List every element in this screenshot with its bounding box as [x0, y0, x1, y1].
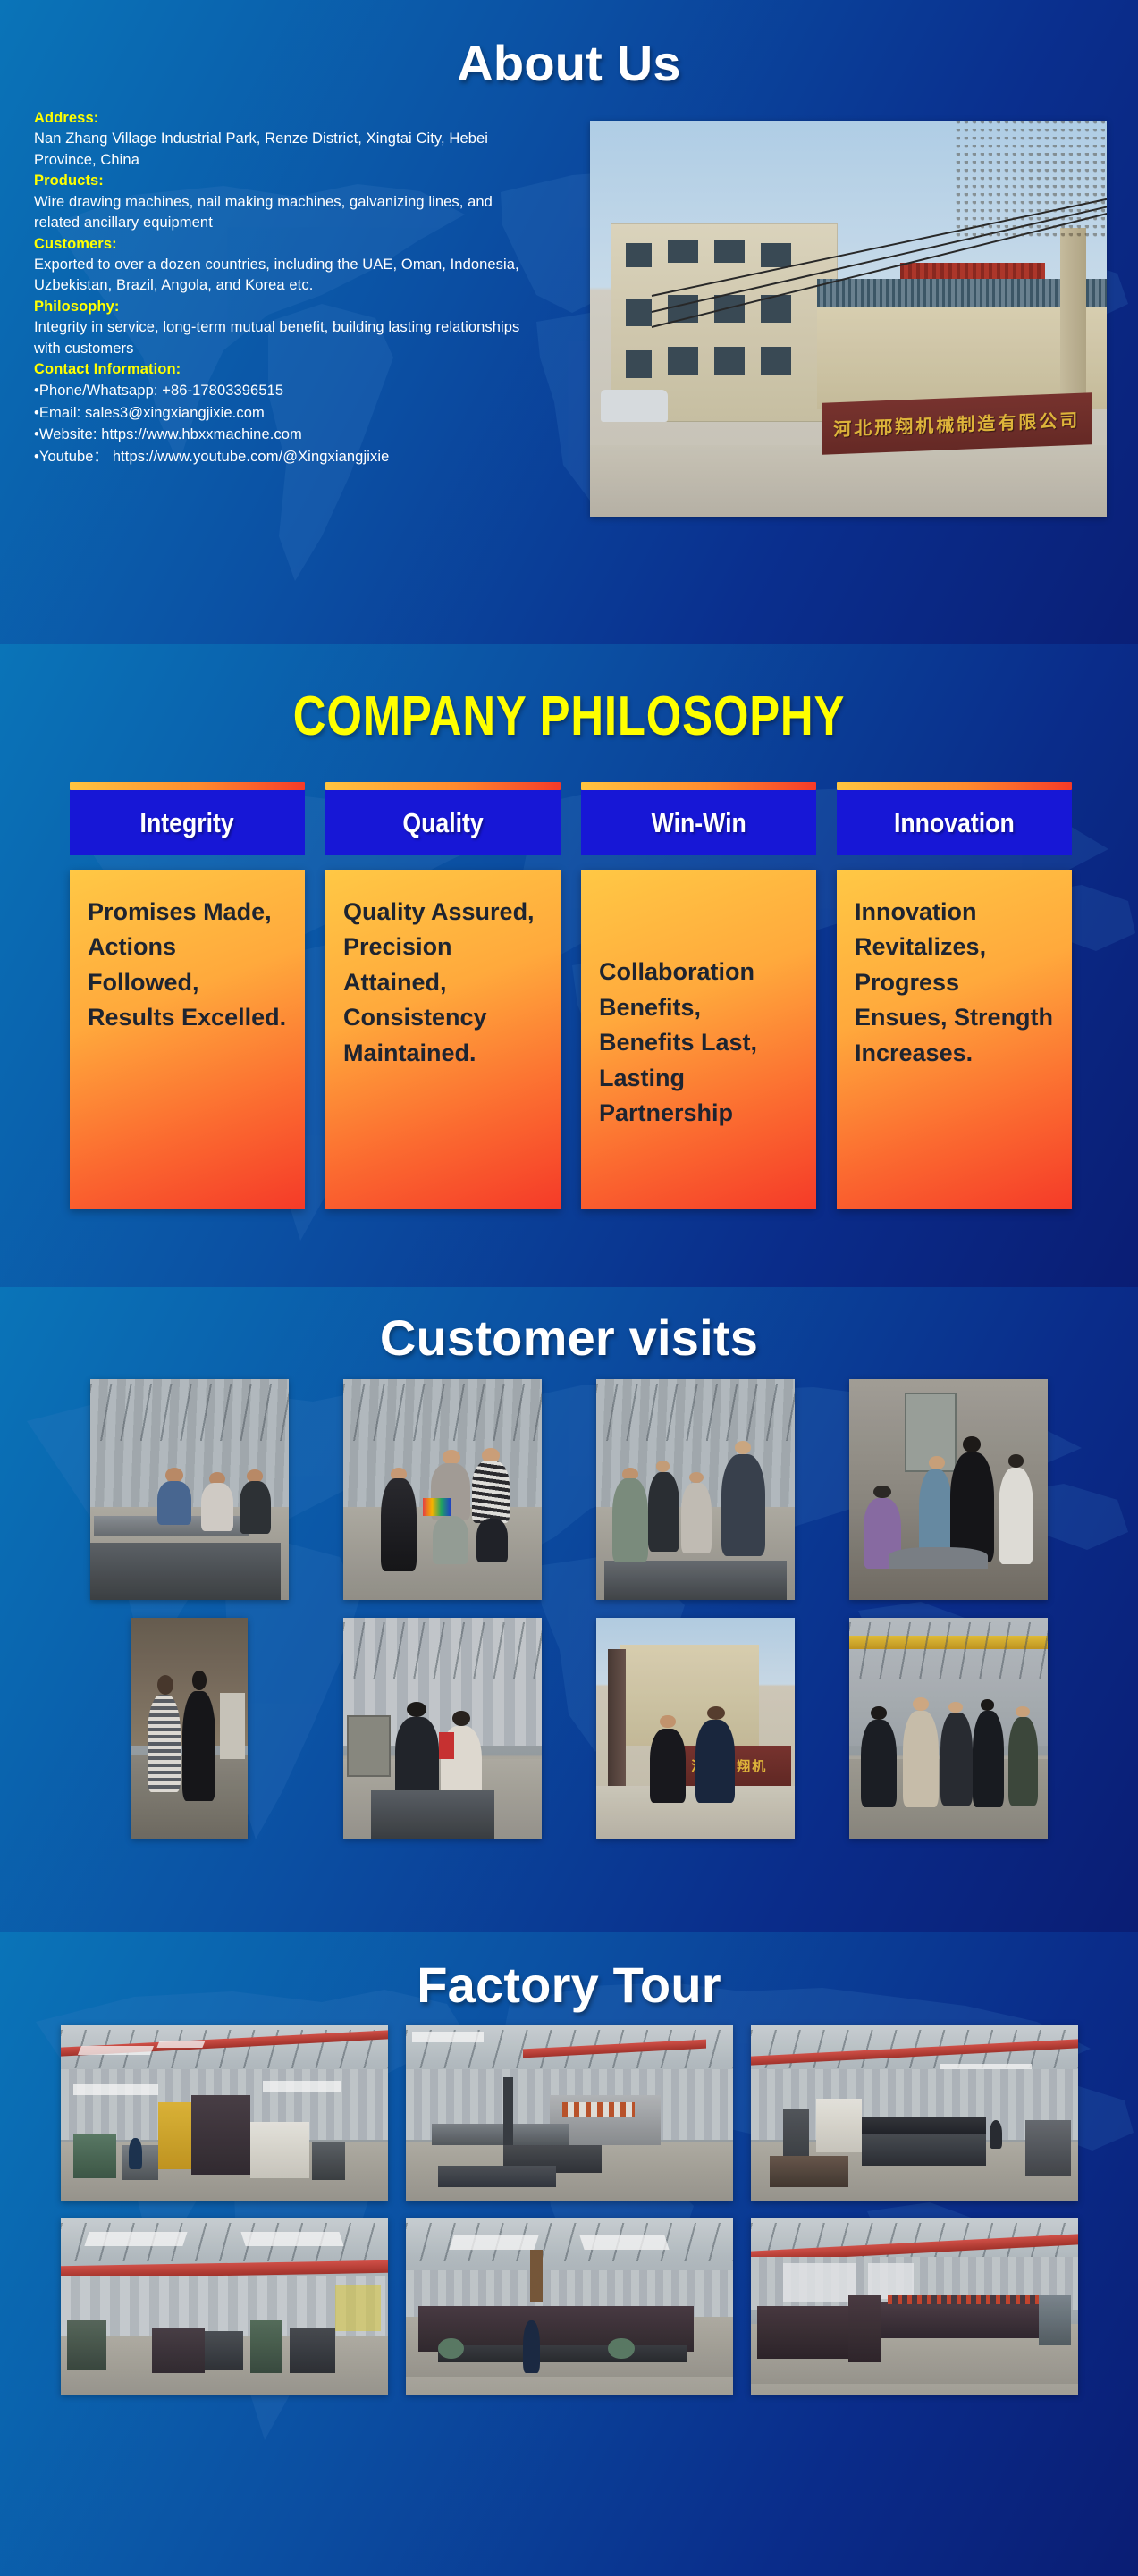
card-header: Innovation	[837, 790, 1072, 855]
factory-photo-row-1	[0, 2014, 1138, 2201]
visit-photo-warehouse-talk	[131, 1618, 248, 1839]
about-label-address: Address:	[34, 108, 572, 129]
factory-photo-crane-hall	[61, 2218, 388, 2395]
card-header: Win-Win	[581, 790, 816, 855]
visit-photo-delegation-walkthrough	[849, 1618, 1048, 1839]
visit-photo-gate-portrait: 河北邢翔机	[596, 1618, 795, 1839]
visits-photo-row-2: 河北邢翔机	[0, 1600, 1138, 1839]
section-about-us: About Us Address: Nan Zhang Village Indu…	[0, 0, 1138, 644]
factory-photo-cnc-machining-bay	[61, 2025, 388, 2201]
section-customer-visits: Customer visits	[0, 1287, 1138, 1932]
factory-photo-row-2	[0, 2201, 1138, 2395]
about-label-products: Products:	[34, 171, 572, 191]
page-title-factory-tour: Factory Tour	[0, 1956, 1138, 2014]
card-header: Integrity	[70, 790, 305, 855]
card-body: Promises Made, Actions Followed, Results…	[70, 870, 305, 1209]
about-value-address: Nan Zhang Village Industrial Park, Renze…	[34, 129, 535, 171]
about-label-customers: Customers:	[34, 234, 572, 255]
page-title-about: About Us	[0, 0, 1138, 92]
card-accent-bar	[325, 782, 561, 790]
about-photo-wrap: 河北邢翔机械制造有限公司	[572, 108, 1107, 517]
factory-photo-drawing-machine-line	[751, 2218, 1078, 2395]
about-body: Address: Nan Zhang Village Industrial Pa…	[0, 92, 1138, 517]
card-header: Quality	[325, 790, 561, 855]
visits-photo-row-1	[0, 1367, 1138, 1600]
about-contact-phone: •Phone/Whatsapp: +86-17803396515	[34, 380, 572, 401]
visit-photo-fabric-sample	[343, 1379, 542, 1600]
card-header-label: Innovation	[894, 807, 1015, 839]
page-title-philosophy: COMPANY PHILOSOPHY	[103, 685, 1036, 748]
factory-photo-assembly-line-bay	[751, 2025, 1078, 2201]
about-label-contact: Contact Information:	[34, 359, 572, 380]
factory-gate-photo: 河北邢翔机械制造有限公司	[590, 121, 1107, 517]
visit-photo-winter-client-visit	[343, 1618, 542, 1839]
about-contact-website[interactable]: •Website: https://www.hbxxmachine.com	[34, 424, 572, 445]
about-value-philosophy: Integrity in service, long-term mutual b…	[34, 317, 535, 359]
about-contact-youtube[interactable]: •Youtube： https://www.youtube.com/@Xingx…	[34, 446, 572, 467]
card-accent-bar	[70, 782, 305, 790]
factory-photo-plate-cutting-area	[406, 2025, 733, 2201]
philosophy-card-row: Integrity Promises Made, Actions Followe…	[0, 748, 1138, 1209]
card-header-label: Integrity	[140, 807, 234, 839]
card-body: Innovation Revitalizes, Progress Ensues,…	[837, 870, 1072, 1209]
philosophy-card-quality[interactable]: Quality Quality Assured, Precision Attai…	[325, 782, 561, 1209]
card-accent-bar	[581, 782, 816, 790]
card-accent-bar	[837, 782, 1072, 790]
page-title-customer-visits: Customer visits	[0, 1309, 1138, 1367]
section-company-philosophy: COMPANY PHILOSOPHY Integrity Promises Ma…	[0, 644, 1138, 1287]
about-value-products: Wire drawing machines, nail making machi…	[34, 192, 535, 234]
philosophy-card-innovation[interactable]: Innovation Innovation Revitalizes, Progr…	[837, 782, 1072, 1209]
philosophy-card-integrity[interactable]: Integrity Promises Made, Actions Followe…	[70, 782, 305, 1209]
visit-photo-group-machine-discussion	[596, 1379, 795, 1600]
card-header-label: Win-Win	[651, 807, 746, 839]
card-body: Collaboration Benefits, Benefits Last, L…	[581, 870, 816, 1209]
about-text-block: Address: Nan Zhang Village Industrial Pa…	[0, 108, 572, 517]
about-value-customers: Exported to over a dozen countries, incl…	[34, 255, 535, 297]
visit-photo-control-panel-demo	[849, 1379, 1048, 1600]
card-body: Quality Assured, Precision Attained, Con…	[325, 870, 561, 1209]
card-header-label: Quality	[402, 807, 483, 839]
section-factory-tour: Factory Tour	[0, 1932, 1138, 2576]
visit-photo-workshop-inspection	[90, 1379, 289, 1600]
factory-photo-tank-assembly	[406, 2218, 733, 2395]
about-label-philosophy: Philosophy:	[34, 297, 572, 317]
about-contact-email[interactable]: •Email: sales3@xingxiangjixie.com	[34, 402, 572, 424]
philosophy-card-win-win[interactable]: Win-Win Collaboration Benefits, Benefits…	[581, 782, 816, 1209]
